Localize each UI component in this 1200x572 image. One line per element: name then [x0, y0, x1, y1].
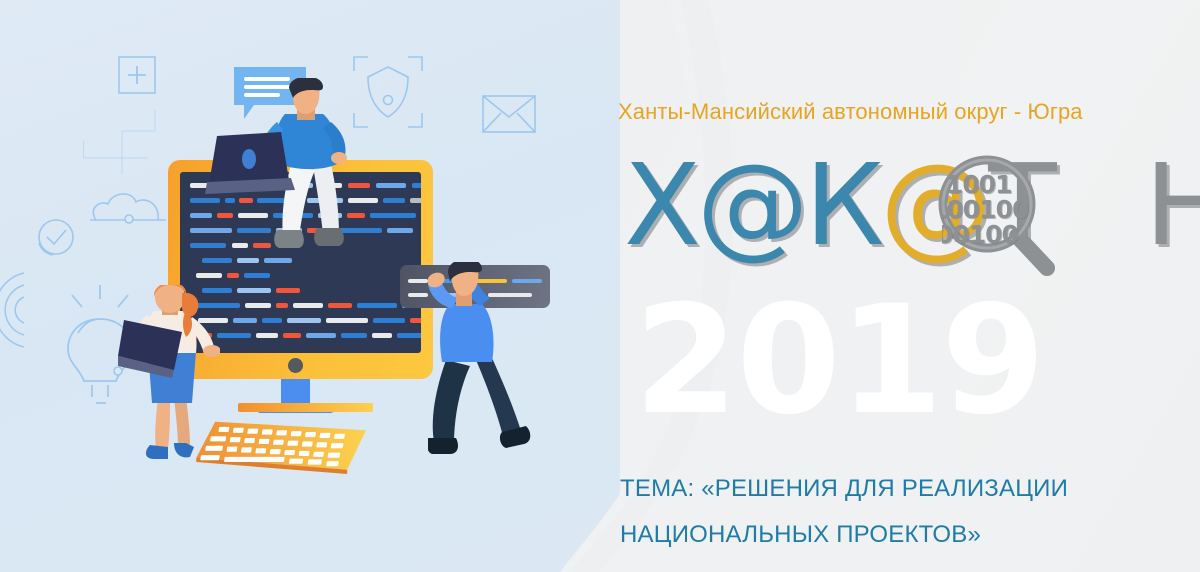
code-bar [370, 213, 416, 218]
binary-row-2: 100100 [942, 197, 1034, 222]
code-bar [387, 228, 413, 233]
binary-row-3: 00100 [942, 222, 1034, 247]
code-bar [190, 213, 212, 218]
concentric-arcs-icon [0, 265, 60, 355]
laptop-woman [118, 318, 186, 380]
code-bar [397, 333, 421, 338]
plus-square-icon [118, 56, 156, 94]
code-bar [237, 288, 271, 293]
code-bar [202, 258, 232, 263]
code-bar [217, 333, 251, 338]
code-bar [373, 318, 405, 323]
code-bar [412, 183, 421, 188]
code-bar [376, 183, 406, 188]
panel-code-bar [408, 279, 428, 283]
code-bar [383, 198, 405, 203]
code-bar [256, 333, 278, 338]
keyboard [188, 420, 376, 480]
code-bar [341, 333, 367, 338]
code-bar [326, 318, 368, 323]
code-bar [233, 318, 257, 323]
code-bar [410, 198, 421, 203]
code-bar [217, 213, 233, 218]
code-bar [328, 303, 352, 308]
logo-letter-k: К [805, 141, 881, 271]
code-bar [276, 288, 300, 293]
theme-text: ТЕМА: «РЕШЕНИЯ ДЛЯ РЕАЛИЗАЦИИ НАЦИОНАЛЬН… [620, 466, 1140, 558]
year-label: 2019 [634, 286, 1043, 436]
region-title: Ханты-Мансийский автономный округ - Югра [618, 99, 1083, 125]
check-circle-icon [30, 215, 80, 263]
hackathon-banner: Ханты-Мансийский автономный округ - Югра… [0, 0, 1200, 572]
code-bar [227, 273, 239, 278]
code-bar [190, 243, 226, 248]
keyboard-accent-strip [238, 403, 373, 412]
laptop-top-developer [205, 132, 295, 202]
hackathon-logo: Х@К@ТН 1001 100100 00100 [624, 150, 1144, 275]
logo-letter-kh: Х [624, 141, 697, 271]
code-bar [372, 333, 392, 338]
logo-letter-n: Н [1053, 141, 1200, 271]
code-bar [283, 333, 301, 338]
code-bar [293, 303, 323, 308]
panel-code-bar [408, 293, 428, 297]
binary-row-1: 1001 [942, 172, 1034, 197]
code-bar [287, 318, 321, 323]
logo-letter-at-1: @ [697, 141, 805, 271]
theme-line-1: ТЕМА: «РЕШЕНИЯ ДЛЯ РЕАЛИЗАЦИИ [620, 466, 1140, 512]
man-carrying-code-panel [428, 262, 558, 472]
code-bar [232, 243, 248, 248]
code-bar [410, 318, 421, 323]
code-bar [276, 303, 288, 308]
code-bar [245, 303, 271, 308]
code-bar [357, 303, 397, 308]
monitor-power-dot [288, 358, 303, 373]
code-bar [262, 318, 282, 323]
code-bar [190, 228, 232, 233]
theme-line-2: НАЦИОНАЛЬНЫХ ПРОЕКТОВ» [620, 512, 1140, 558]
logo-letters: Х@К@ТН [624, 144, 1200, 269]
code-bar [196, 273, 222, 278]
magnifier-binary-text: 1001 100100 00100 [942, 172, 1034, 247]
code-bar [306, 333, 336, 338]
envelope-icon [482, 95, 536, 133]
